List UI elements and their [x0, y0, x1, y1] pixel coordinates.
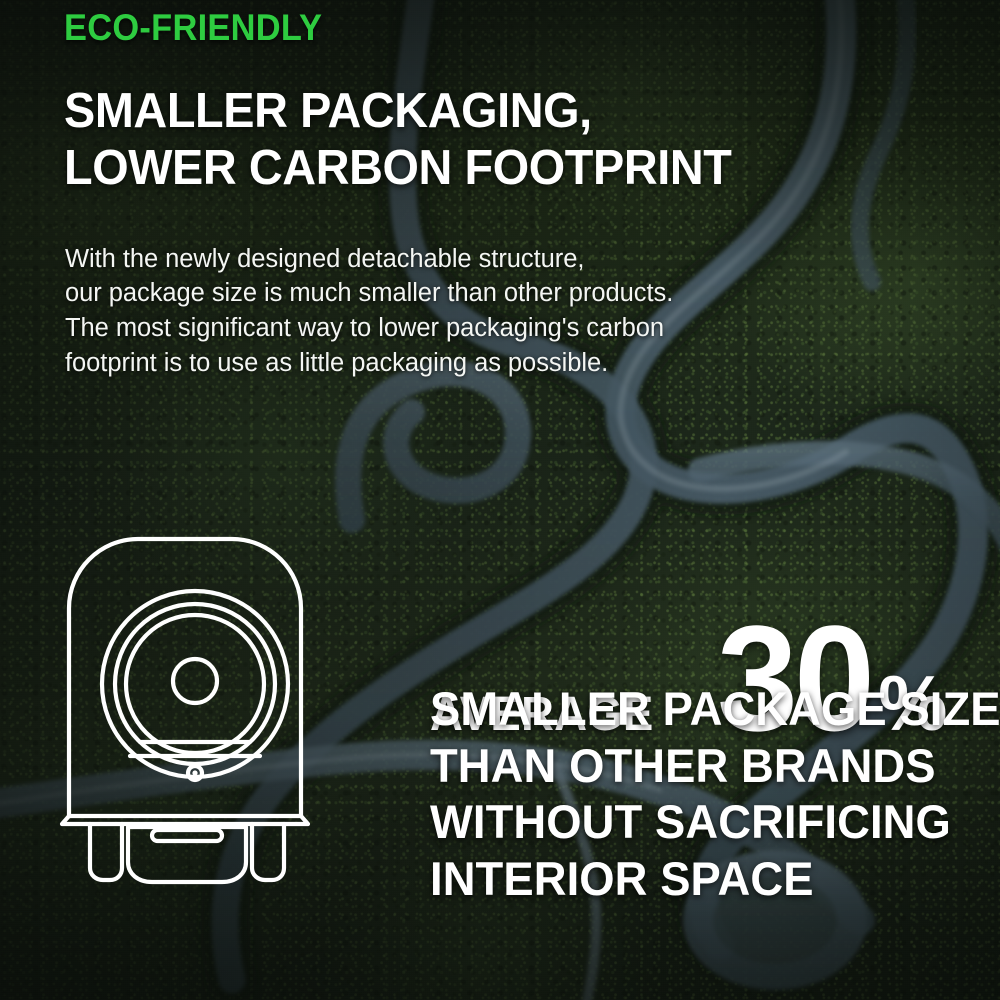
- body-paragraph: With the newly designed detachable struc…: [65, 242, 945, 382]
- statistic-block: AVERAGE 30 % SMALLER PACKAGE SIZE THAN O…: [430, 560, 960, 910]
- eyebrow-eco-friendly: ECO-FRIENDLY: [64, 8, 322, 49]
- body-line-1: With the newly designed detachable struc…: [65, 242, 945, 277]
- drum-inner-ring: [126, 615, 264, 753]
- body-line-3: The most significant way to lower packag…: [65, 311, 945, 346]
- body-line-4: footprint is to use as little packaging …: [65, 346, 945, 381]
- headline-line-2: LOWER CARBON FOOTPRINT: [64, 140, 904, 197]
- eco-friendly-packaging-poster: ECO-FRIENDLY SMALLER PACKAGING, LOWER CA…: [0, 0, 1000, 1000]
- poster-content: ECO-FRIENDLY SMALLER PACKAGING, LOWER CA…: [0, 0, 1000, 1000]
- drum-center-hub: [173, 659, 217, 703]
- statistic-detail-line-4: INTERIOR SPACE: [430, 852, 936, 909]
- statistic-detail-text: SMALLER PACKAGE SIZE THAN OTHER BRANDS W…: [430, 682, 936, 908]
- statistic-detail-line-1: SMALLER PACKAGE SIZE: [430, 682, 936, 739]
- litter-box-line-art-illustration: [56, 524, 356, 894]
- power-button-dot: [192, 770, 197, 775]
- waste-drawer-outline: [128, 827, 246, 882]
- right-leg: [252, 824, 284, 880]
- drawer-handle: [152, 830, 222, 841]
- drum-outer-ring: [102, 591, 288, 777]
- left-leg: [90, 824, 122, 880]
- page-title: SMALLER PACKAGING, LOWER CARBON FOOTPRIN…: [64, 83, 904, 198]
- statistic-detail-line-2: THAN OTHER BRANDS: [430, 739, 936, 796]
- statistic-detail-line-3: WITHOUT SACRIFICING: [430, 795, 936, 852]
- body-line-2: our package size is much smaller than ot…: [65, 276, 945, 311]
- headline-line-1: SMALLER PACKAGING,: [64, 83, 904, 140]
